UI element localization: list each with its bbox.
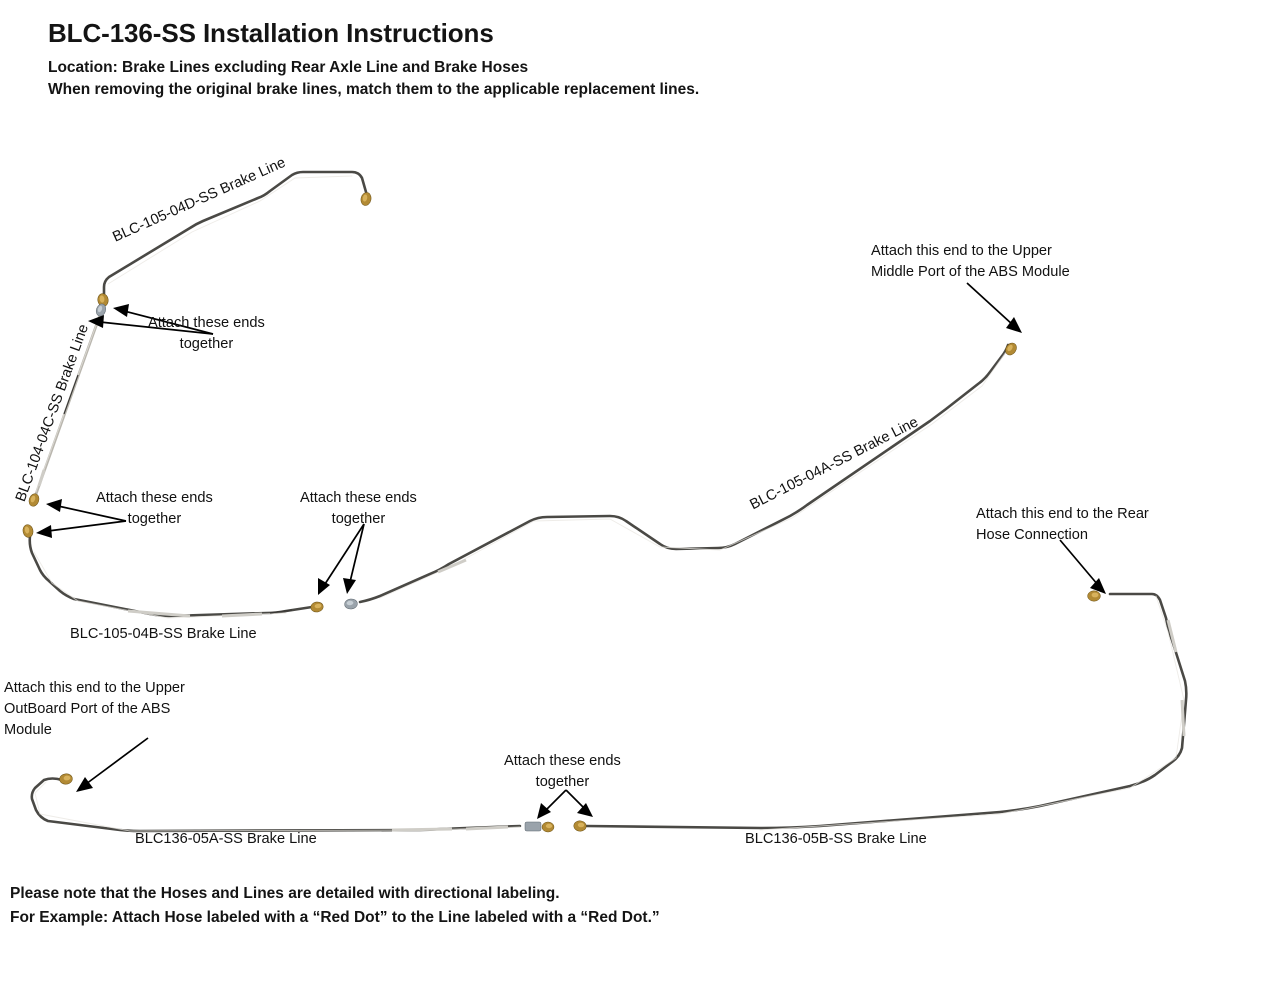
annotation-line-1: Attach these ends <box>504 751 621 772</box>
brake-line-blc136-05a-ss <box>32 773 554 832</box>
annotation-line-1: Attach these ends <box>300 488 417 509</box>
annotation-attach-ends-midcenter: Attach these ends together <box>300 488 417 530</box>
annotation-attach-ends-top: Attach these ends together <box>148 313 265 355</box>
arrow-abs-upper-outboard <box>76 738 148 792</box>
annotation-line-1: Attach this end to the Upper <box>4 678 185 699</box>
annotation-line-1: Attach these ends <box>96 488 213 509</box>
footer-block: Please note that the Hoses and Lines are… <box>10 882 1110 930</box>
annotation-line-1: Attach this end to the Rear <box>976 504 1149 525</box>
annotation-line-1: Attach these ends <box>148 313 265 334</box>
annotation-line-2: OutBoard Port of the ABS <box>4 699 185 720</box>
annotation-attach-ends-bottom: Attach these ends together <box>504 751 621 793</box>
annotation-line-3: Module <box>4 720 185 741</box>
annotation-line-2: Hose Connection <box>976 525 1149 546</box>
annotation-line-1: Attach this end to the Upper <box>871 241 1070 262</box>
arrow-abs-upper-middle <box>967 283 1022 333</box>
annotation-line-2: together <box>300 509 417 530</box>
footer-line-2: For Example: Attach Hose labeled with a … <box>10 906 1110 930</box>
footer-line-1: Please note that the Hoses and Lines are… <box>10 882 1110 906</box>
annotation-abs-upper-outboard: Attach this end to the Upper OutBoard Po… <box>4 678 185 741</box>
annotation-abs-upper-middle: Attach this end to the Upper Middle Port… <box>871 241 1070 283</box>
arrow-attach-ends-bottom <box>537 790 593 819</box>
annotation-line-2: Middle Port of the ABS Module <box>871 262 1070 283</box>
annotation-line-2: together <box>504 772 621 793</box>
part-label-blc136-05b-ss: BLC136-05B-SS Brake Line <box>745 830 927 849</box>
brake-line-blc136-05b-ss <box>573 591 1186 832</box>
part-label-blc136-05a-ss: BLC136-05A-SS Brake Line <box>135 830 317 849</box>
arrow-rear-hose <box>1060 540 1106 594</box>
annotation-attach-ends-midleft: Attach these ends together <box>96 488 213 530</box>
instruction-sheet-page: BLC-136-SS Installation Instructions Loc… <box>0 0 1280 989</box>
annotation-rear-hose: Attach this end to the Rear Hose Connect… <box>976 504 1149 546</box>
arrow-attach-ends-midcenter <box>318 524 364 595</box>
part-label-blc-105-04b-ss: BLC-105-04B-SS Brake Line <box>70 625 257 644</box>
brake-line-blc-105-04b-ss <box>22 524 324 618</box>
brake-line-blc-105-04a-ss <box>344 341 1019 610</box>
annotation-line-2: together <box>148 334 265 355</box>
annotation-line-2: together <box>96 509 213 530</box>
